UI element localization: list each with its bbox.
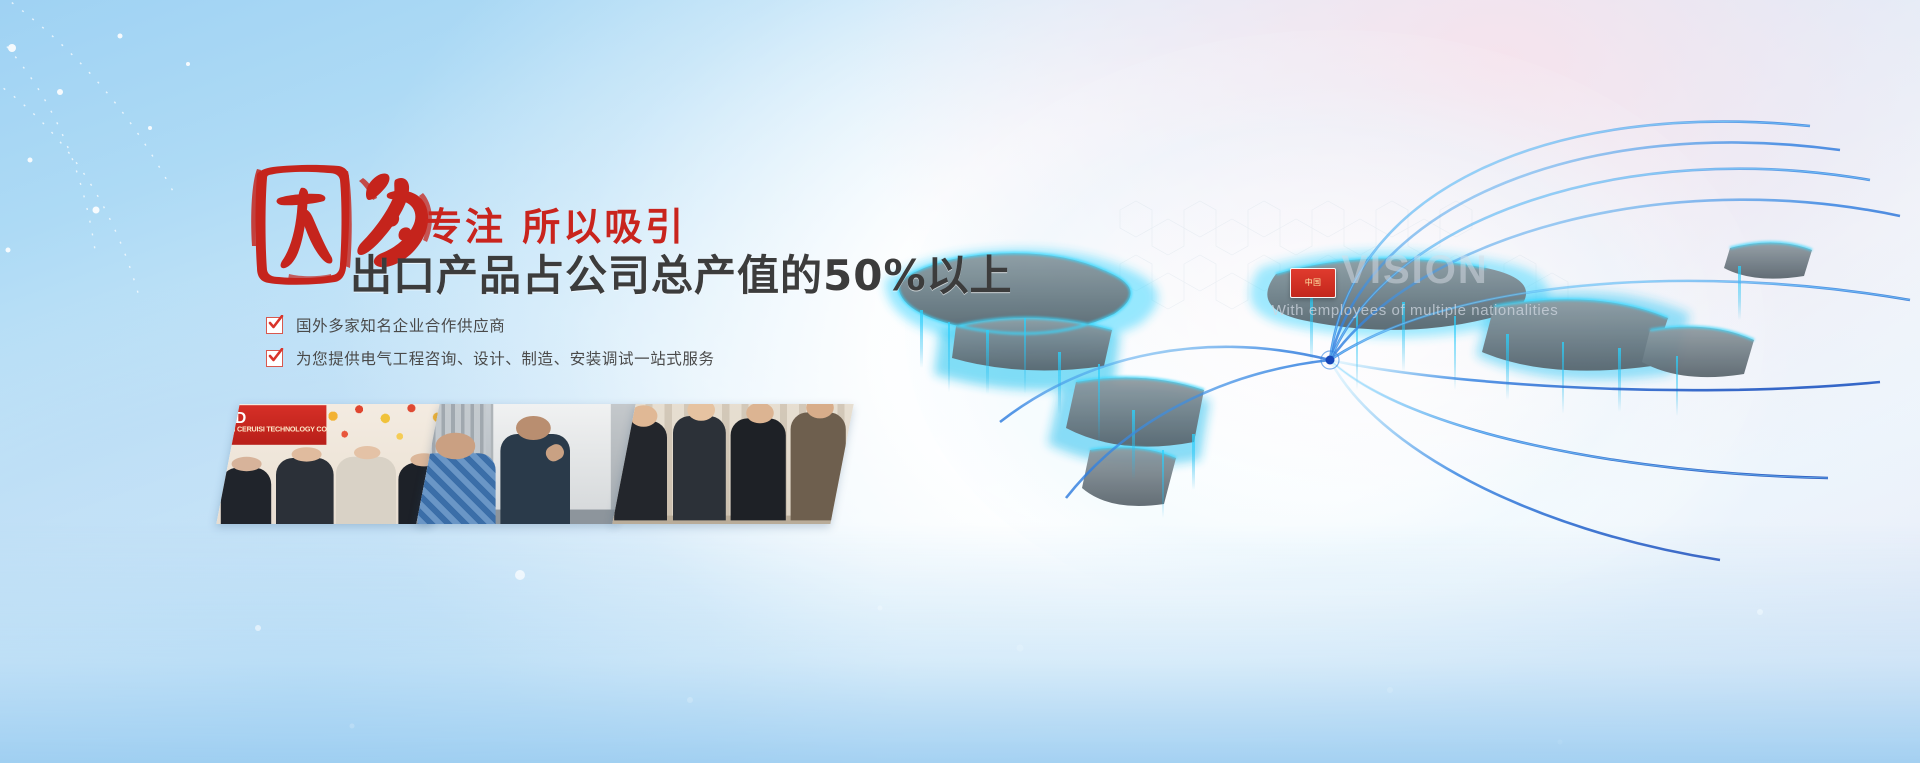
red-flag-marker-icon: 中国 <box>1290 268 1336 298</box>
list-item: 国外多家知名企业合作供应商 <box>266 314 715 336</box>
team-group-photo[interactable] <box>612 404 853 524</box>
bullet-list: 国外多家知名企业合作供应商 为您提供电气工程咨询、设计、制造、安装调试一站式服务 <box>266 314 715 380</box>
red-checkbox-icon <box>266 350 283 367</box>
list-item: 为您提供电气工程咨询、设计、制造、安装调试一站式服务 <box>266 347 715 369</box>
list-item-label: 为您提供电气工程咨询、设计、制造、安装调试一站式服务 <box>296 347 715 369</box>
technicians-cabinet-photo[interactable] <box>416 404 639 524</box>
promotional-banner: VISION With employees of multiple nation… <box>0 0 1920 763</box>
list-item-label: 国外多家知名企业合作供应商 <box>296 314 505 336</box>
page-title: 出口产品占公司总产值的50%以上 <box>350 242 1013 303</box>
headline-block: 专注 所以吸引 出口产品占公司总产值的50%以上 国外多家知名企业合作供应商 为… <box>0 0 960 763</box>
photo-banner-text: HDD <box>216 409 245 427</box>
watermark-subtitle: With employees of multiple nationalities <box>850 302 1920 319</box>
red-checkbox-icon <box>266 317 283 334</box>
